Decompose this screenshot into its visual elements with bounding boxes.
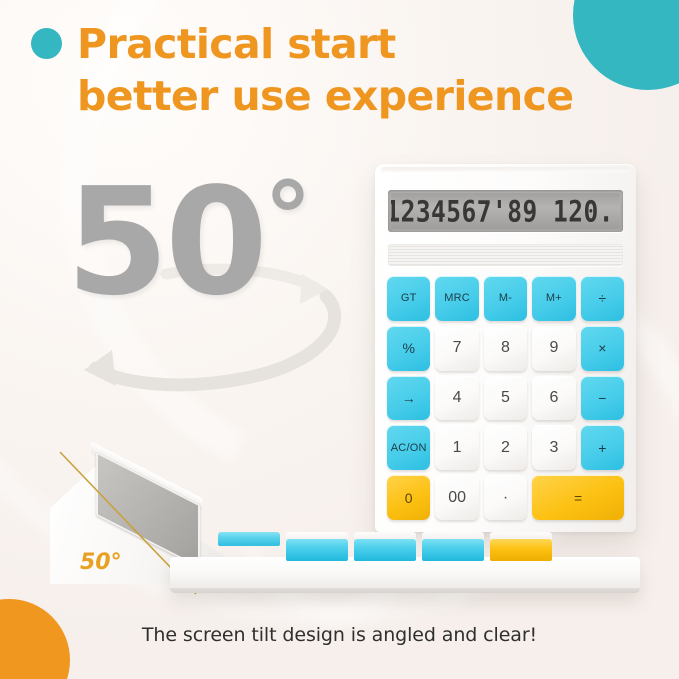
big-angle-label: 50° — [66, 168, 312, 316]
calculator-key-m[interactable]: M- — [484, 276, 527, 321]
profile-key — [286, 539, 348, 561]
calculator-key-m[interactable]: M+ — [532, 276, 575, 321]
big-angle-degree-symbol: ° — [264, 162, 312, 274]
calculator-key-7[interactable]: 7 — [435, 326, 478, 371]
calculator-key-[interactable]: = — [532, 475, 624, 520]
page-title: Practical start better use experience — [30, 18, 650, 122]
bullet-dot-icon — [31, 28, 62, 59]
lcd-display-frame: 1234567'89 120. — [388, 190, 623, 232]
calculator-key-8[interactable]: 8 — [484, 326, 527, 371]
headline-block: Practical start better use experience — [30, 18, 650, 122]
calculator-key-2[interactable]: 2 — [484, 425, 527, 470]
calculator-key-4[interactable]: 4 — [435, 376, 478, 421]
headline-line-1: Practical start — [77, 18, 650, 70]
lcd-display-value: 1234567'89 120. — [391, 196, 614, 226]
calculator-device: 1234567'89 120. GTMRCM-M+÷%789×→456−AC/O… — [375, 164, 636, 532]
calculator-key-1[interactable]: 1 — [435, 425, 478, 470]
calculator-key-gt[interactable]: GT — [387, 276, 430, 321]
lcd-glass: 1234567'89 120. — [391, 193, 620, 229]
tilt-angle-graphic: 50° — [66, 168, 376, 418]
calculator-top-edge — [381, 167, 630, 172]
profile-key — [218, 532, 280, 546]
calculator-key-[interactable]: % — [387, 326, 430, 371]
caption-text: The screen tilt design is angled and cle… — [0, 624, 679, 646]
calculator-key-0[interactable]: 0 — [387, 475, 430, 520]
calculator-keypad[interactable]: GTMRCM-M+÷%789×→456−AC/ON123+000·= — [387, 276, 624, 520]
profile-key — [490, 539, 552, 561]
calculator-key-ac-on[interactable]: AC/ON — [387, 425, 430, 470]
calculator-key-9[interactable]: 9 — [532, 326, 575, 371]
calculator-key-3[interactable]: 3 — [532, 425, 575, 470]
calculator-key-[interactable]: ÷ — [581, 276, 624, 321]
solar-vent-strip — [388, 244, 623, 266]
calculator-key-[interactable]: · — [484, 475, 527, 520]
keyboard-profile-strip — [170, 527, 640, 605]
product-poster: Practical start better use experience 50… — [0, 0, 679, 679]
side-view-angle-label: 50° — [80, 552, 122, 574]
keyboard-profile-base — [170, 557, 640, 593]
calculator-key-6[interactable]: 6 — [532, 376, 575, 421]
calculator-key-[interactable]: − — [581, 376, 624, 421]
calculator-key-[interactable]: × — [581, 326, 624, 371]
calculator-key-[interactable]: → — [387, 376, 430, 421]
calculator-key-5[interactable]: 5 — [484, 376, 527, 421]
calculator-key-[interactable]: + — [581, 425, 624, 470]
big-angle-number: 50 — [66, 156, 264, 328]
profile-key — [354, 539, 416, 561]
headline-line-2: better use experience — [77, 70, 650, 122]
calculator-key-00[interactable]: 00 — [435, 475, 478, 520]
calculator-key-mrc[interactable]: MRC — [435, 276, 478, 321]
profile-key — [422, 539, 484, 561]
